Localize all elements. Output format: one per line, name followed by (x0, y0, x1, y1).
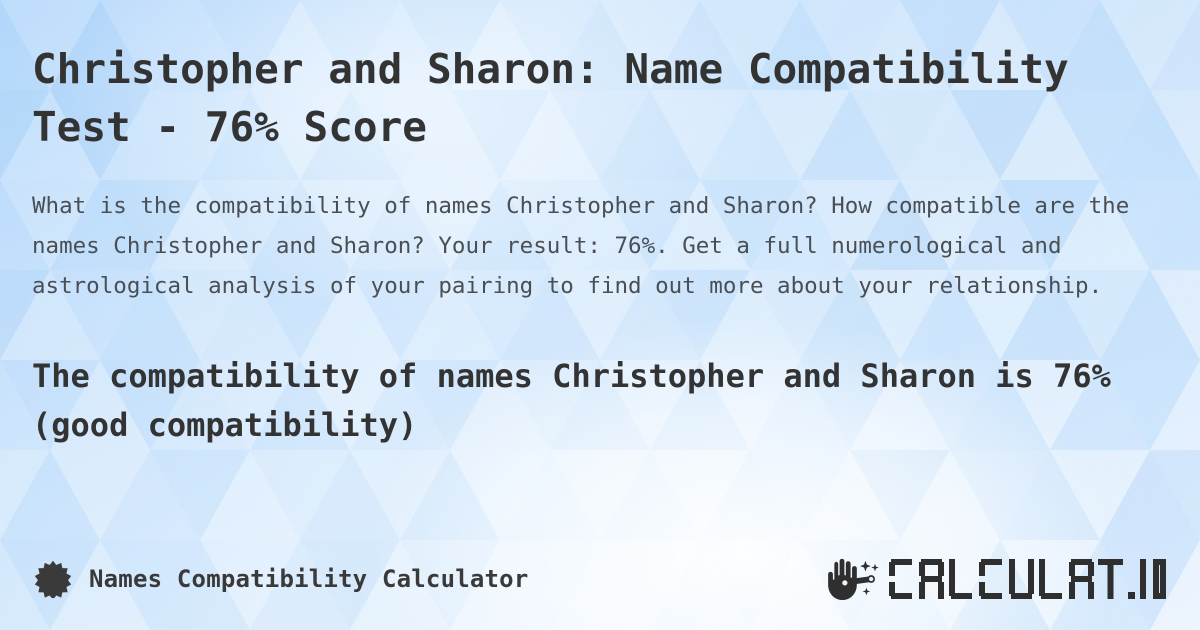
brand-block: Names Compatibility Calculator (34, 560, 528, 598)
logo-wordmark (888, 557, 1166, 601)
brand-name: Names Compatibility Calculator (89, 565, 528, 593)
compatibility-result-heading: The compatibility of names Christopher a… (32, 352, 1172, 449)
page-description: What is the compatibility of names Chris… (32, 186, 1160, 306)
hand-magic-wand-icon (824, 557, 882, 601)
page-title: Christopher and Sharon: Name Compatibili… (32, 40, 1172, 156)
footer: Names Compatibility Calculator (0, 548, 1200, 610)
starburst-icon (34, 560, 72, 598)
calculatio-logo[interactable] (824, 557, 1166, 601)
og-image-card: Christopher and Sharon: Name Compatibili… (0, 0, 1200, 630)
